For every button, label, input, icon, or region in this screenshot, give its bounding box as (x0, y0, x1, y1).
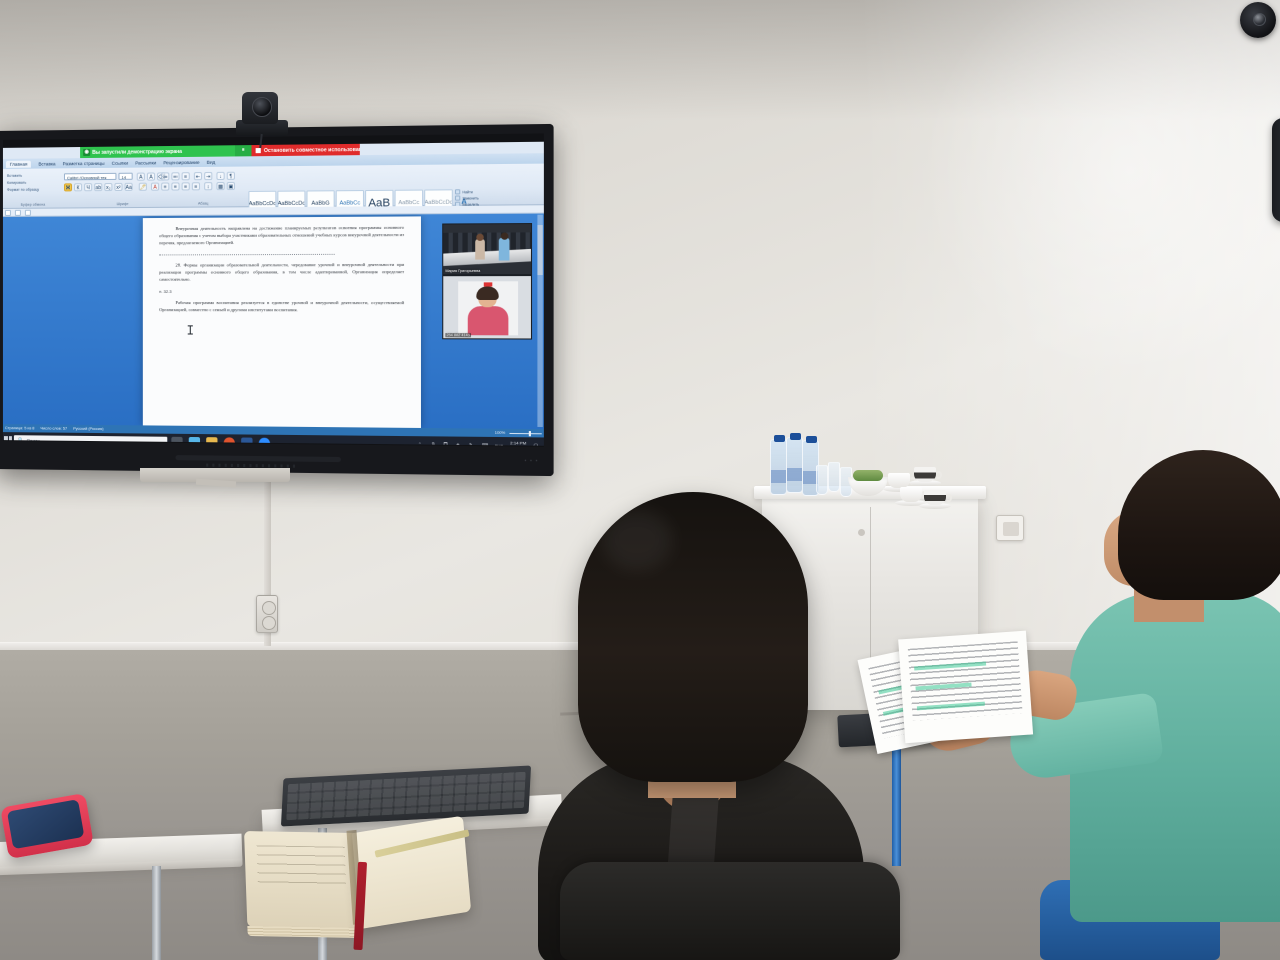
video-participants-panel[interactable]: Мария Григорьевна 254 882 4145 (442, 223, 532, 340)
keyboard-keys[interactable] (286, 772, 526, 821)
interactive-flat-panel[interactable]: Главная Вставка Разметка страницы Ссылки… (0, 124, 554, 476)
webcam-frame (458, 281, 518, 335)
drinking-glass[interactable] (816, 465, 828, 495)
taskbar-clock[interactable]: 2:14 PM 7/25/2023 (509, 440, 528, 446)
align-left-button[interactable]: ≡ (161, 182, 169, 190)
handwritten-notes (257, 845, 347, 891)
video-tile-webcam[interactable]: 254 882 4145 (442, 275, 532, 340)
doc-reference-note: п. 32.3 (159, 289, 404, 294)
doc-paragraph-2: 28. Формы организации образовательной де… (159, 260, 404, 283)
sharing-status: ◉ Вы запустили демонстрацию экрана (80, 145, 235, 158)
shading-button[interactable]: ▩ (216, 182, 224, 190)
paragraph-group-label: Абзац (159, 201, 247, 206)
show-marks-button[interactable]: ¶ (227, 172, 235, 180)
participant-name: Мария Григорьевна (445, 269, 480, 273)
water-bottle[interactable] (770, 439, 787, 495)
text-cursor-icon (190, 325, 191, 334)
bullets-button[interactable]: ≔ (161, 172, 169, 180)
tab-view[interactable]: Вид (207, 159, 216, 164)
italic-button[interactable]: К (74, 183, 82, 191)
classroom-person-1 (475, 239, 485, 260)
classroom-person-2 (499, 238, 510, 261)
tab-mailings[interactable]: Рассылки (135, 160, 156, 165)
sort-button[interactable]: ↓ (216, 172, 224, 180)
zoom-icon: ◉ (83, 149, 90, 156)
undo-icon[interactable] (15, 209, 21, 215)
save-icon[interactable] (5, 209, 11, 215)
font-family-select[interactable]: Calibri (Основной тек (64, 173, 116, 181)
tea-cup-set[interactable] (898, 482, 924, 506)
participant-id: 254 882 4145 (445, 333, 471, 337)
tab-review[interactable]: Рецензирование (163, 159, 199, 164)
stop-share-button[interactable]: Остановить совместное использование (251, 144, 359, 156)
doc-paragraph-1: Внеурочная деятельность направлена на до… (159, 224, 404, 247)
green-snacks (853, 470, 883, 481)
notebook-page-edges (247, 926, 359, 938)
wall-power-socket-right[interactable] (996, 515, 1024, 541)
doc-paragraph-3: Рабочая программа воспитания реализуется… (159, 299, 404, 314)
document-scrollbar[interactable] (537, 215, 542, 427)
office-chair-front[interactable] (560, 862, 900, 960)
notification-icon[interactable]: 🗨 (533, 442, 541, 446)
multilevel-list-button[interactable]: ≡ (182, 172, 190, 180)
status-page: Страница: 5 из 8 (5, 426, 34, 430)
tab-page-layout[interactable]: Разметка страницы (63, 160, 105, 165)
grow-font-button[interactable]: A (137, 173, 145, 181)
water-bottle[interactable] (786, 437, 803, 493)
redo-icon[interactable] (25, 209, 31, 215)
borders-button[interactable]: ▣ (227, 182, 235, 190)
language-indicator[interactable]: РУС (495, 443, 504, 446)
paragraph-divider (159, 253, 334, 255)
document-page[interactable]: Внеурочная деятельность направлена на до… (143, 216, 421, 428)
superscript-button[interactable]: x² (114, 183, 122, 191)
status-language[interactable]: Русский (Россия) (73, 427, 103, 431)
document-sheet[interactable] (898, 631, 1033, 744)
stop-square-icon (256, 148, 261, 153)
tab-insert[interactable]: Вставка (38, 161, 55, 166)
find-button[interactable]: Найти (455, 189, 496, 194)
printed-documents[interactable] (861, 627, 1052, 755)
desk-leg-left (152, 866, 161, 960)
underline-button[interactable]: Ч (84, 183, 92, 191)
camera-lens-icon (252, 97, 272, 117)
strikethrough-button[interactable]: ab (94, 183, 102, 191)
panel-camera (1240, 2, 1276, 38)
word-ribbon: Вставить Копировать Формат по образцу Бу… (2, 164, 545, 209)
change-case-button[interactable]: Aa (125, 183, 133, 191)
tab-home[interactable]: Главная (6, 160, 31, 167)
status-zoom-area[interactable]: 100% (495, 431, 542, 436)
drinking-glass[interactable] (828, 462, 840, 492)
panel-pen-tray[interactable] (1272, 118, 1280, 222)
replace-button[interactable]: Заменить (455, 195, 496, 200)
decrease-indent-button[interactable]: ⇤ (194, 172, 202, 180)
pause-share-button[interactable]: ⏸ (235, 145, 252, 156)
align-right-button[interactable]: ≡ (182, 182, 190, 190)
sharing-status-text: Вы запустили демонстрацию экрана (92, 148, 182, 155)
line-spacing-button[interactable]: ↕ (204, 182, 212, 190)
find-icon (455, 189, 460, 194)
ribbon-group-clipboard: Вставить Копировать Формат по образцу Бу… (5, 170, 61, 207)
format-painter-button[interactable]: Формат по образцу (7, 188, 39, 192)
webcam-person-body (468, 306, 509, 335)
ribbon-group-paragraph: ≔ ≕ ≡ ⇤ ⇥ ↓ ¶ ≡ ≡ ≡ ≡ ↕ ▩ ▣ Абза (159, 169, 247, 206)
font-color-button[interactable]: A (151, 183, 159, 191)
tea-cup-set[interactable] (922, 485, 948, 509)
increase-indent-button[interactable]: ⇥ (204, 172, 212, 180)
numbering-button[interactable]: ≕ (171, 172, 179, 180)
participant-right-hair (1118, 450, 1280, 600)
text-highlight-button[interactable]: 🖊 (139, 183, 147, 191)
copy-button[interactable]: Копировать (7, 181, 26, 185)
panel-brand-logo: • • • (524, 458, 538, 464)
notebook-left-page (244, 831, 359, 929)
participant-front-hair (578, 492, 808, 782)
stop-share-text: Остановить совместное использование (264, 146, 360, 153)
phone-screen[interactable] (7, 799, 85, 849)
zoom-level: 100% (495, 431, 505, 435)
meeting-room-photo: Главная Вставка Разметка страницы Ссылки… (0, 0, 1280, 960)
participant-right (1030, 440, 1280, 960)
align-center-button[interactable]: ≡ (171, 182, 179, 190)
replace-icon (455, 195, 460, 200)
zoom-slider[interactable] (509, 432, 541, 433)
webcam-person-hair (476, 287, 498, 300)
video-tile-classroom[interactable]: Мария Григорьевна (442, 223, 532, 275)
shrink-font-button[interactable]: A (147, 172, 155, 180)
status-words: Число слов: 57 (40, 426, 67, 430)
ptz-conference-camera (236, 92, 290, 140)
font-size-select[interactable]: 14 (118, 173, 132, 180)
clipboard-group-label: Буфер обмена (5, 203, 61, 207)
keyboard-icon[interactable]: ⌨ (482, 441, 489, 445)
panel-speaker-grill (175, 455, 340, 462)
scrollbar-thumb[interactable] (537, 225, 542, 275)
wall-power-socket[interactable] (256, 595, 278, 633)
bold-button[interactable]: Ж (64, 183, 72, 191)
ptz-camera-head (242, 92, 278, 124)
paste-button[interactable]: Вставить (7, 174, 22, 178)
panel-screen[interactable]: Главная Вставка Разметка страницы Ссылки… (2, 142, 545, 446)
subscript-button[interactable]: x₂ (104, 183, 112, 191)
justify-button[interactable]: ≡ (192, 182, 200, 190)
tab-references[interactable]: Ссылки (112, 160, 128, 165)
